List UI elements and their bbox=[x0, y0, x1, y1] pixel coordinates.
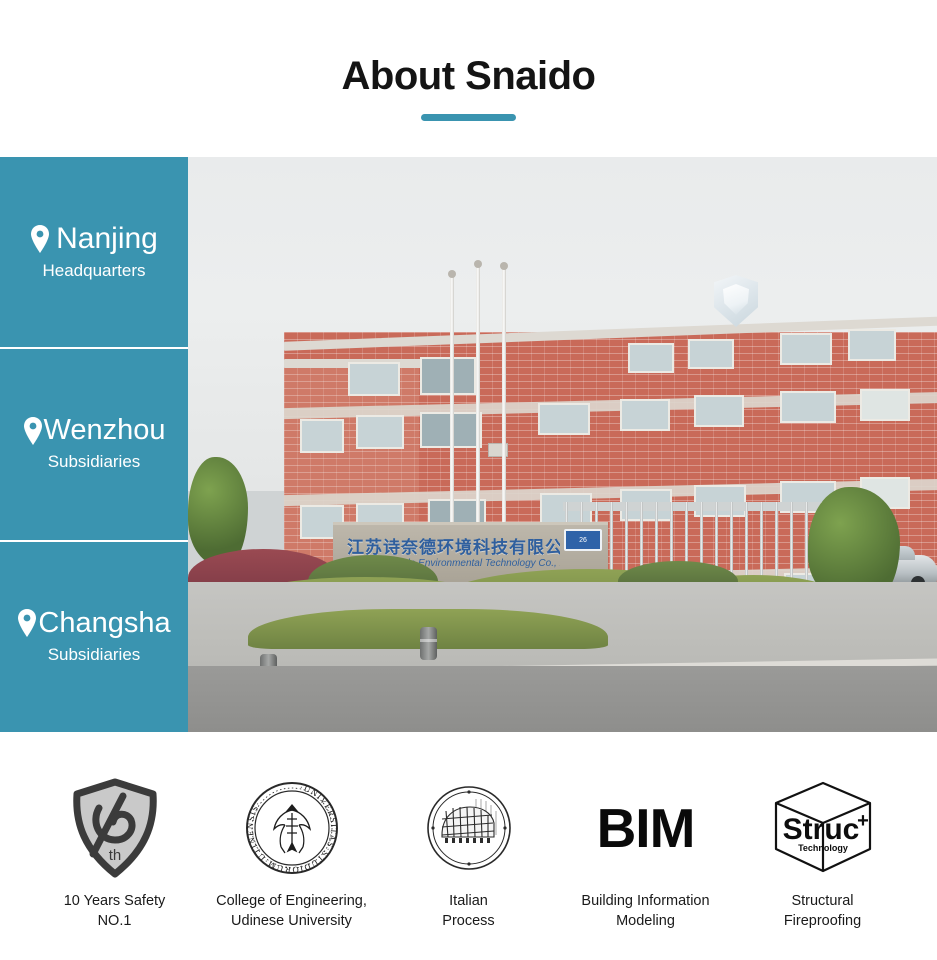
window bbox=[694, 395, 744, 427]
locations-sidebar: Nanjing Headquarters Wenzhou Subsidiarie… bbox=[0, 157, 188, 732]
location-title: Changsha bbox=[17, 609, 170, 638]
hero-section: Nanjing Headquarters Wenzhou Subsidiarie… bbox=[0, 157, 937, 732]
struc-plus-box-logo-icon: Struc + Technology bbox=[768, 778, 878, 878]
bim-wordmark-icon: BIM bbox=[597, 778, 695, 878]
svg-text:Technology: Technology bbox=[798, 843, 848, 853]
location-title: Nanjing bbox=[30, 224, 158, 254]
window bbox=[848, 329, 896, 361]
location-role: Subsidiaries bbox=[48, 645, 141, 665]
certification-label: Building Information Modeling bbox=[581, 892, 709, 931]
certifications-row: th 10 Years Safety NO.1 ·UNIVERSITAS·STU… bbox=[0, 732, 937, 960]
window bbox=[780, 333, 832, 365]
window bbox=[538, 403, 590, 435]
certification-udinese-university[interactable]: ·UNIVERSITAS·STUDIORUM·UTINENSIS· Colleg… bbox=[203, 778, 380, 931]
svg-text:Italian Manufacturing Process: Italian Manufacturing Process bbox=[426, 785, 429, 787]
about-snaido-page: About Snaido Nanjing Headquarters bbox=[0, 0, 937, 960]
page-header: About Snaido bbox=[0, 0, 937, 157]
svg-text:Struc: Struc bbox=[782, 813, 859, 846]
svg-text:+: + bbox=[857, 810, 869, 832]
certification-label: Italian Process bbox=[442, 892, 494, 931]
certification-10-years-safety[interactable]: th 10 Years Safety NO.1 bbox=[26, 778, 203, 931]
location-card-nanjing[interactable]: Nanjing Headquarters bbox=[0, 157, 188, 349]
location-pin-icon bbox=[30, 225, 50, 253]
location-name: Changsha bbox=[38, 609, 170, 638]
certification-italian-process[interactable]: Italian Manufacturing Process Italian Pr… bbox=[380, 778, 557, 931]
location-pin-icon bbox=[17, 609, 37, 637]
certification-structural-fireproofing[interactable]: Struc + Technology Structural Fireproofi… bbox=[734, 778, 911, 931]
location-title: Wenzhou bbox=[23, 416, 166, 445]
location-card-changsha[interactable]: Changsha Subsidiaries bbox=[0, 542, 188, 732]
location-card-wenzhou[interactable]: Wenzhou Subsidiaries bbox=[0, 349, 188, 541]
window bbox=[620, 399, 670, 431]
window bbox=[420, 357, 476, 395]
location-pin-icon bbox=[23, 417, 43, 445]
window bbox=[688, 339, 734, 369]
headquarters-photo: 江苏诗奈德环境科技有限公司 Jiangsu Snaide Environment… bbox=[188, 157, 937, 732]
certification-label: College of Engineering, Udinese Universi… bbox=[216, 892, 367, 931]
bim-text: BIM bbox=[597, 801, 695, 856]
university-seal-icon: ·UNIVERSITAS·STUDIORUM·UTINENSIS· bbox=[243, 778, 341, 878]
location-name: Wenzhou bbox=[44, 416, 166, 445]
shield-10th-badge-icon: th bbox=[69, 778, 161, 878]
window bbox=[860, 389, 910, 421]
wall-sign-chinese: 江苏诗奈德环境科技有限公司 bbox=[347, 533, 560, 555]
bollard bbox=[420, 627, 437, 660]
window bbox=[348, 362, 400, 396]
window bbox=[780, 391, 836, 423]
road bbox=[188, 666, 937, 732]
location-role: Headquarters bbox=[42, 261, 145, 281]
certification-bim[interactable]: BIM Building Information Modeling bbox=[557, 778, 734, 931]
svg-text:th: th bbox=[108, 847, 121, 864]
address-plate: 26 bbox=[564, 529, 602, 551]
window bbox=[300, 419, 344, 453]
certification-label: 10 Years Safety NO.1 bbox=[64, 892, 166, 931]
location-name: Nanjing bbox=[56, 224, 158, 254]
colosseum-seal-icon: Italian Manufacturing Process bbox=[426, 778, 512, 878]
window bbox=[356, 415, 404, 449]
page-title: About Snaido bbox=[342, 56, 596, 96]
location-role: Subsidiaries bbox=[48, 452, 141, 472]
certification-label: Structural Fireproofing bbox=[784, 892, 861, 931]
window bbox=[628, 343, 674, 373]
title-underline bbox=[421, 114, 516, 121]
